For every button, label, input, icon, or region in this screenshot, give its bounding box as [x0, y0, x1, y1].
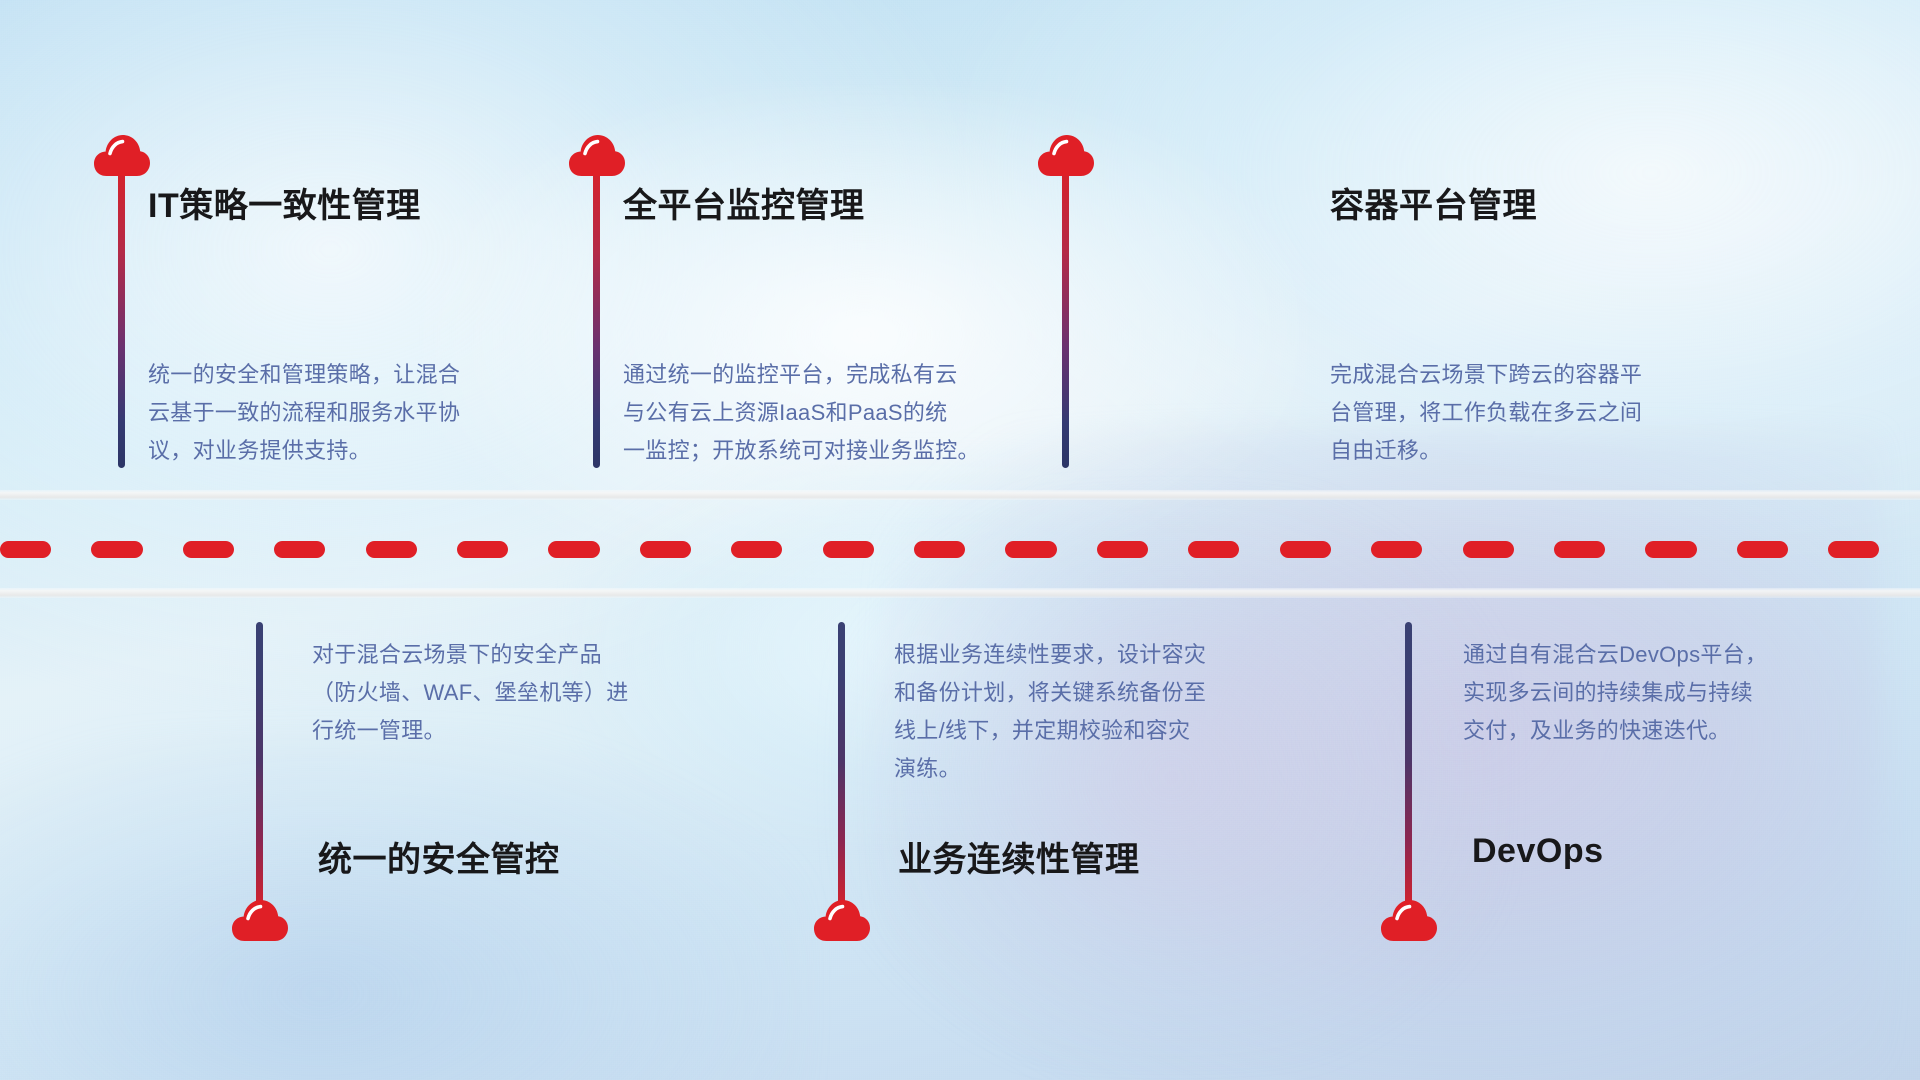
road-dash	[183, 541, 234, 558]
road-dash	[366, 541, 417, 558]
road-dash	[1371, 541, 1422, 558]
heading-it-policy-consistency: IT策略一致性管理	[148, 178, 421, 227]
road-dash	[1188, 541, 1239, 558]
road-band-top	[0, 490, 1920, 500]
heading-devops: DevOps	[1472, 832, 1604, 871]
road-dash	[1737, 541, 1788, 558]
road-dash	[1645, 541, 1696, 558]
pin-stem	[838, 622, 845, 912]
body-devops: 通过自有混合云DevOps平台， 实现多云间的持续集成与持续 交付，及业务的快速…	[1463, 636, 1823, 750]
heading-container-platform: 容器平台管理	[1330, 178, 1537, 227]
road-dash	[91, 541, 142, 558]
pin-stem	[118, 168, 125, 468]
body-full-platform-monitoring: 通过统一的监控平台，完成私有云 与公有云上资源IaaS和PaaS的统 一监控；开…	[623, 356, 1003, 470]
road-dash	[1097, 541, 1148, 558]
road-band-bottom	[0, 588, 1920, 598]
road-dash	[1554, 541, 1605, 558]
road-dash	[731, 541, 782, 558]
pin-stem	[593, 168, 600, 468]
road-dash	[914, 541, 965, 558]
road-dash	[548, 541, 599, 558]
cloud-icon	[1380, 898, 1438, 942]
cloud-icon	[568, 133, 626, 177]
body-it-policy-consistency: 统一的安全和管理策略，让混合 云基于一致的流程和服务水平协 议，对业务提供支持。	[148, 356, 528, 470]
heading-full-platform-monitoring: 全平台监控管理	[623, 178, 865, 227]
road-dash	[1463, 541, 1514, 558]
road-dash	[1280, 541, 1331, 558]
pin-stem	[1062, 168, 1069, 468]
body-container-platform: 完成混合云场景下跨云的容器平 台管理，将工作负载在多云之间 自由迁移。	[1330, 356, 1710, 470]
body-unified-security-control: 对于混合云场景下的安全产品 （防火墙、WAF、堡垒机等）进 行统一管理。	[312, 636, 692, 750]
road-dash	[274, 541, 325, 558]
cloud-icon	[231, 898, 289, 942]
road-dash	[640, 541, 691, 558]
road-dash	[457, 541, 508, 558]
heading-unified-security-control: 统一的安全管控	[318, 832, 560, 881]
road-dash	[1005, 541, 1056, 558]
cloud-icon	[93, 133, 151, 177]
road-dash	[1828, 541, 1879, 558]
road-dash	[0, 541, 51, 558]
cloud-icon	[813, 898, 871, 942]
infographic-canvas: IT策略一致性管理 统一的安全和管理策略，让混合 云基于一致的流程和服务水平协 …	[0, 0, 1920, 1080]
dashed-road-divider	[0, 540, 1920, 558]
heading-business-continuity: 业务连续性管理	[898, 832, 1140, 881]
pin-stem	[256, 622, 263, 912]
cloud-icon	[1037, 133, 1095, 177]
body-business-continuity: 根据业务连续性要求，设计容灾 和备份计划，将关键系统备份至 线上/线下，并定期校…	[894, 636, 1274, 788]
pin-stem	[1405, 622, 1412, 912]
road-dash	[823, 541, 874, 558]
